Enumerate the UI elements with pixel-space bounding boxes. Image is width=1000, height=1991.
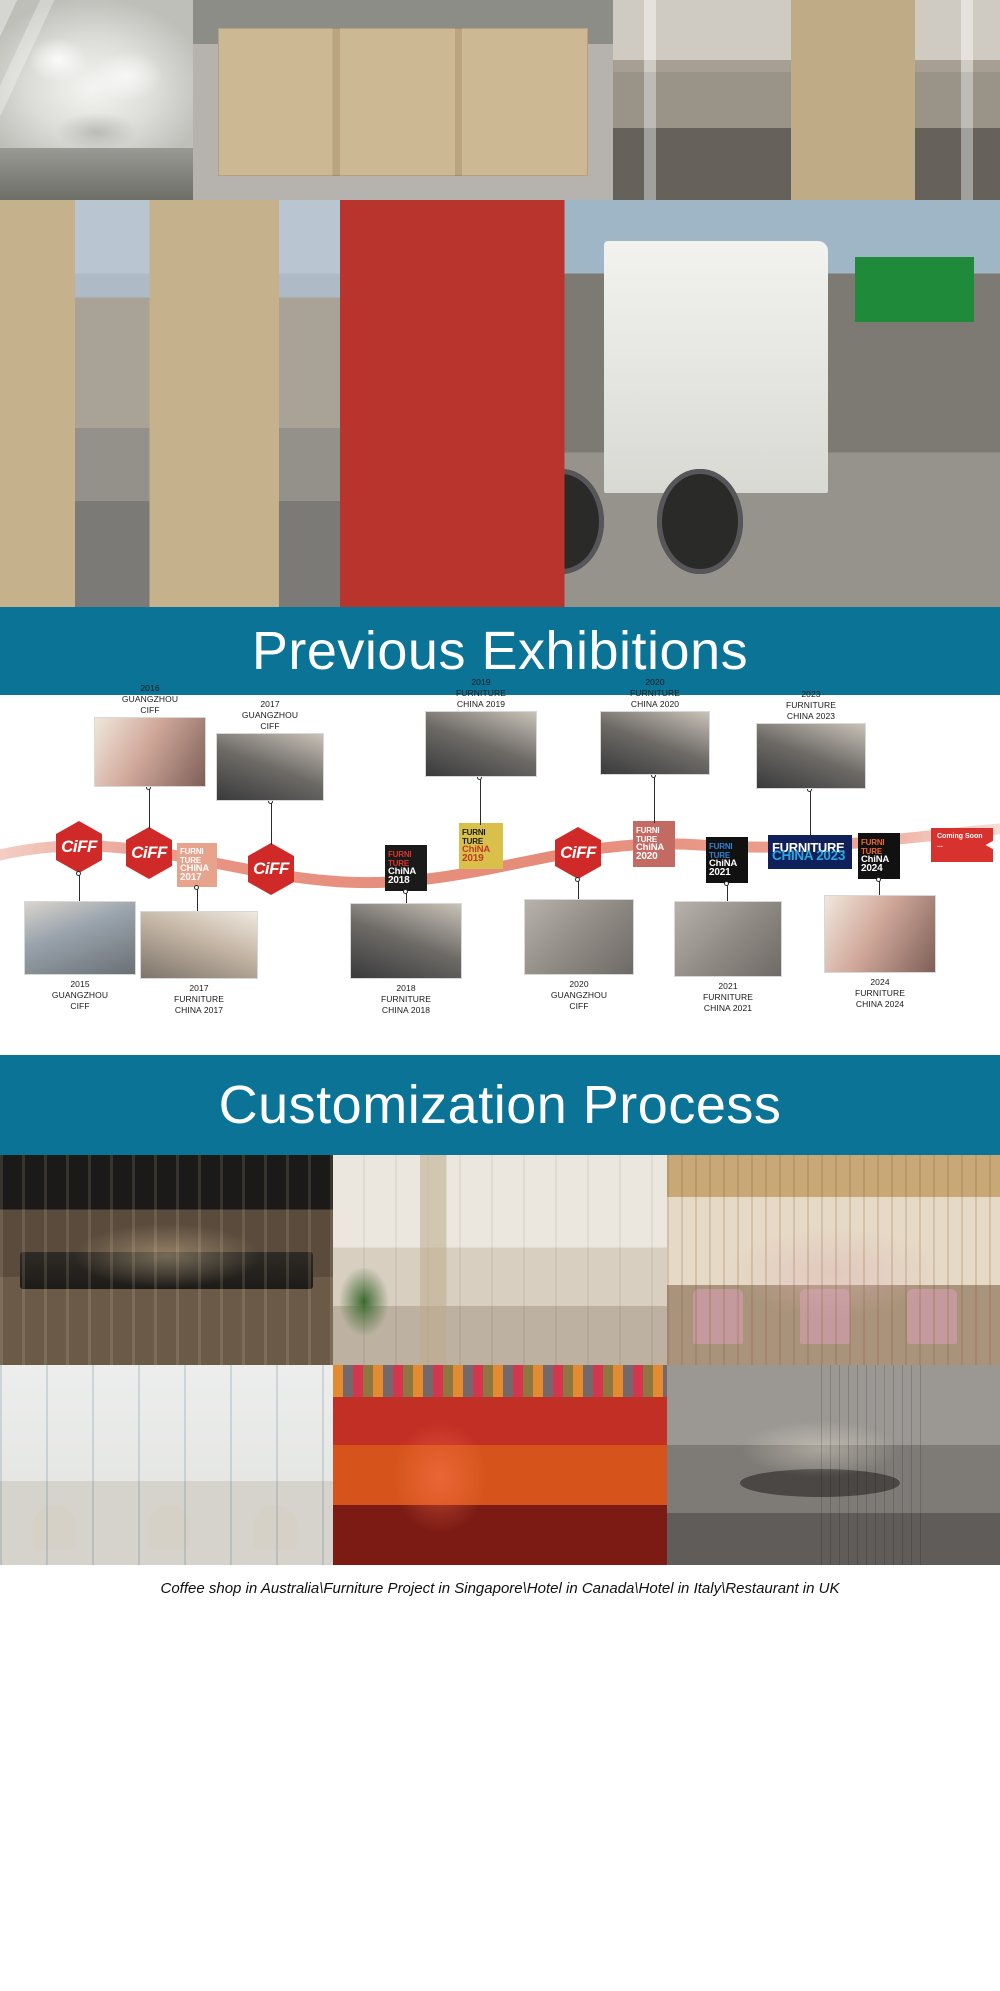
furniture-china-logo: FURNI TURE ChiNA 2019 xyxy=(459,823,503,869)
furniture-china-logo: FURNI TURE CHINA 2017 xyxy=(177,843,217,887)
photo-wood-lounge-pink-chairs xyxy=(667,1155,1000,1365)
project-caption-bar: Coffee shop in Australia\Furniture Proje… xyxy=(0,1565,1000,1611)
ciff-hexagon-icon: CiFF xyxy=(56,821,102,873)
timeline-label: 2018 FURNITURE CHINA 2018 xyxy=(346,983,466,1016)
timeline-label: 2023 FURNITURE CHINA 2023 xyxy=(752,689,870,722)
exhibition-photo xyxy=(94,717,206,787)
coming-soon-badge[interactable]: Coming Soon ... xyxy=(931,828,993,862)
timeline-label: 2017 GUANGZHOU CIFF xyxy=(212,699,328,732)
furniture-china-logo: FURNI TURE ChiNA 2021 xyxy=(706,837,748,883)
logo-line-4: 2024 xyxy=(861,865,897,874)
stem-line xyxy=(654,777,655,823)
product-detail-page: Previous Exhibitions CiFF 2015 GUANGZHOU xyxy=(0,0,1000,1991)
timeline-label: 2020 FURNITURE CHINA 2020 xyxy=(596,677,714,710)
exhibition-photo xyxy=(756,723,866,789)
project-photo-row-1 xyxy=(0,1155,1000,1365)
photo-glass-hotel-lobby xyxy=(0,1365,333,1565)
photo-banquet-restaurant xyxy=(0,1155,333,1365)
timeline-label: 2019 FURNITURE CHINA 2019 xyxy=(421,677,541,710)
timeline-label: 2024 FURNITURE CHINA 2024 xyxy=(820,977,940,1010)
ciff-hexagon-icon: CiFF xyxy=(248,843,294,895)
ciff-hexagon-icon: CiFF xyxy=(126,827,172,879)
exhibition-photo xyxy=(674,901,782,977)
node-dot xyxy=(194,885,199,890)
photo-plastic-wrapped-bundle xyxy=(0,0,193,200)
node-dot xyxy=(76,871,81,876)
shipping-photo-row xyxy=(0,200,1000,607)
logo-line-2: CHINA 2023 xyxy=(772,852,848,861)
stem-line xyxy=(810,791,811,837)
photo-container-truck xyxy=(340,200,1000,607)
exhibition-photo xyxy=(824,895,936,973)
node-dot xyxy=(575,877,580,882)
photo-grey-meeting-room xyxy=(667,1365,1000,1565)
node-dot xyxy=(876,877,881,882)
furniture-china-logo: FURNI TURE ChiNA 2024 xyxy=(858,833,900,879)
exhibition-photo xyxy=(524,899,634,975)
exhibition-timeline: CiFF 2015 GUANGZHOU CIFF CiFF 2016 GUANG… xyxy=(0,695,1000,1055)
ciff-hexagon-icon: CiFF xyxy=(555,827,601,879)
project-caption-text: Coffee shop in Australia\Furniture Proje… xyxy=(161,1580,840,1597)
exhibition-photo xyxy=(24,901,136,975)
logo-line-4: 2019 xyxy=(462,855,500,864)
furniture-china-logo: FURNI TURE ChiNA 2018 xyxy=(385,845,427,891)
photo-bright-lounge xyxy=(333,1155,666,1365)
timeline-label: 2017 FURNITURE CHINA 2017 xyxy=(138,983,260,1016)
stem-line xyxy=(149,789,150,829)
project-photo-row-2 xyxy=(0,1365,1000,1565)
timeline-label: 2015 GUANGZHOU CIFF xyxy=(20,979,140,1012)
timeline-label: 2021 FURNITURE CHINA 2021 xyxy=(670,981,786,1014)
photo-mexican-bar xyxy=(333,1365,666,1565)
banner-title-previous-exhibitions: Previous Exhibitions xyxy=(252,624,748,678)
packing-photo-row xyxy=(0,0,1000,200)
logo-line-4: 2020 xyxy=(636,853,672,862)
exhibition-photo xyxy=(140,911,258,979)
banner-title-customization-process: Customization Process xyxy=(219,1078,782,1132)
timeline-label: 2020 GUANGZHOU CIFF xyxy=(520,979,638,1012)
photo-pallet-hand-truck xyxy=(0,200,340,607)
logo-line-4: 2018 xyxy=(388,877,424,886)
exhibition-photo xyxy=(600,711,710,775)
exhibition-photo xyxy=(350,903,462,979)
node-dot xyxy=(724,881,729,886)
timeline-label: 2016 GUANGZHOU CIFF xyxy=(90,683,210,716)
logo-line-4: 2017 xyxy=(180,874,214,883)
exhibition-photo xyxy=(216,733,324,801)
furniture-china-logo: FURNITURE CHINA 2023 xyxy=(768,835,852,869)
logo-line-4: 2021 xyxy=(709,869,745,878)
exhibition-photo xyxy=(425,711,537,777)
stem-line xyxy=(480,779,481,825)
node-dot xyxy=(403,889,408,894)
furniture-china-logo: FURNI TURE ChiNA 2020 xyxy=(633,821,675,867)
stem-line xyxy=(271,803,272,845)
photo-stacked-cartons-pallet xyxy=(193,0,613,200)
section-banner-customization-process: Customization Process xyxy=(0,1055,1000,1155)
photo-factory-packing xyxy=(613,0,1000,200)
